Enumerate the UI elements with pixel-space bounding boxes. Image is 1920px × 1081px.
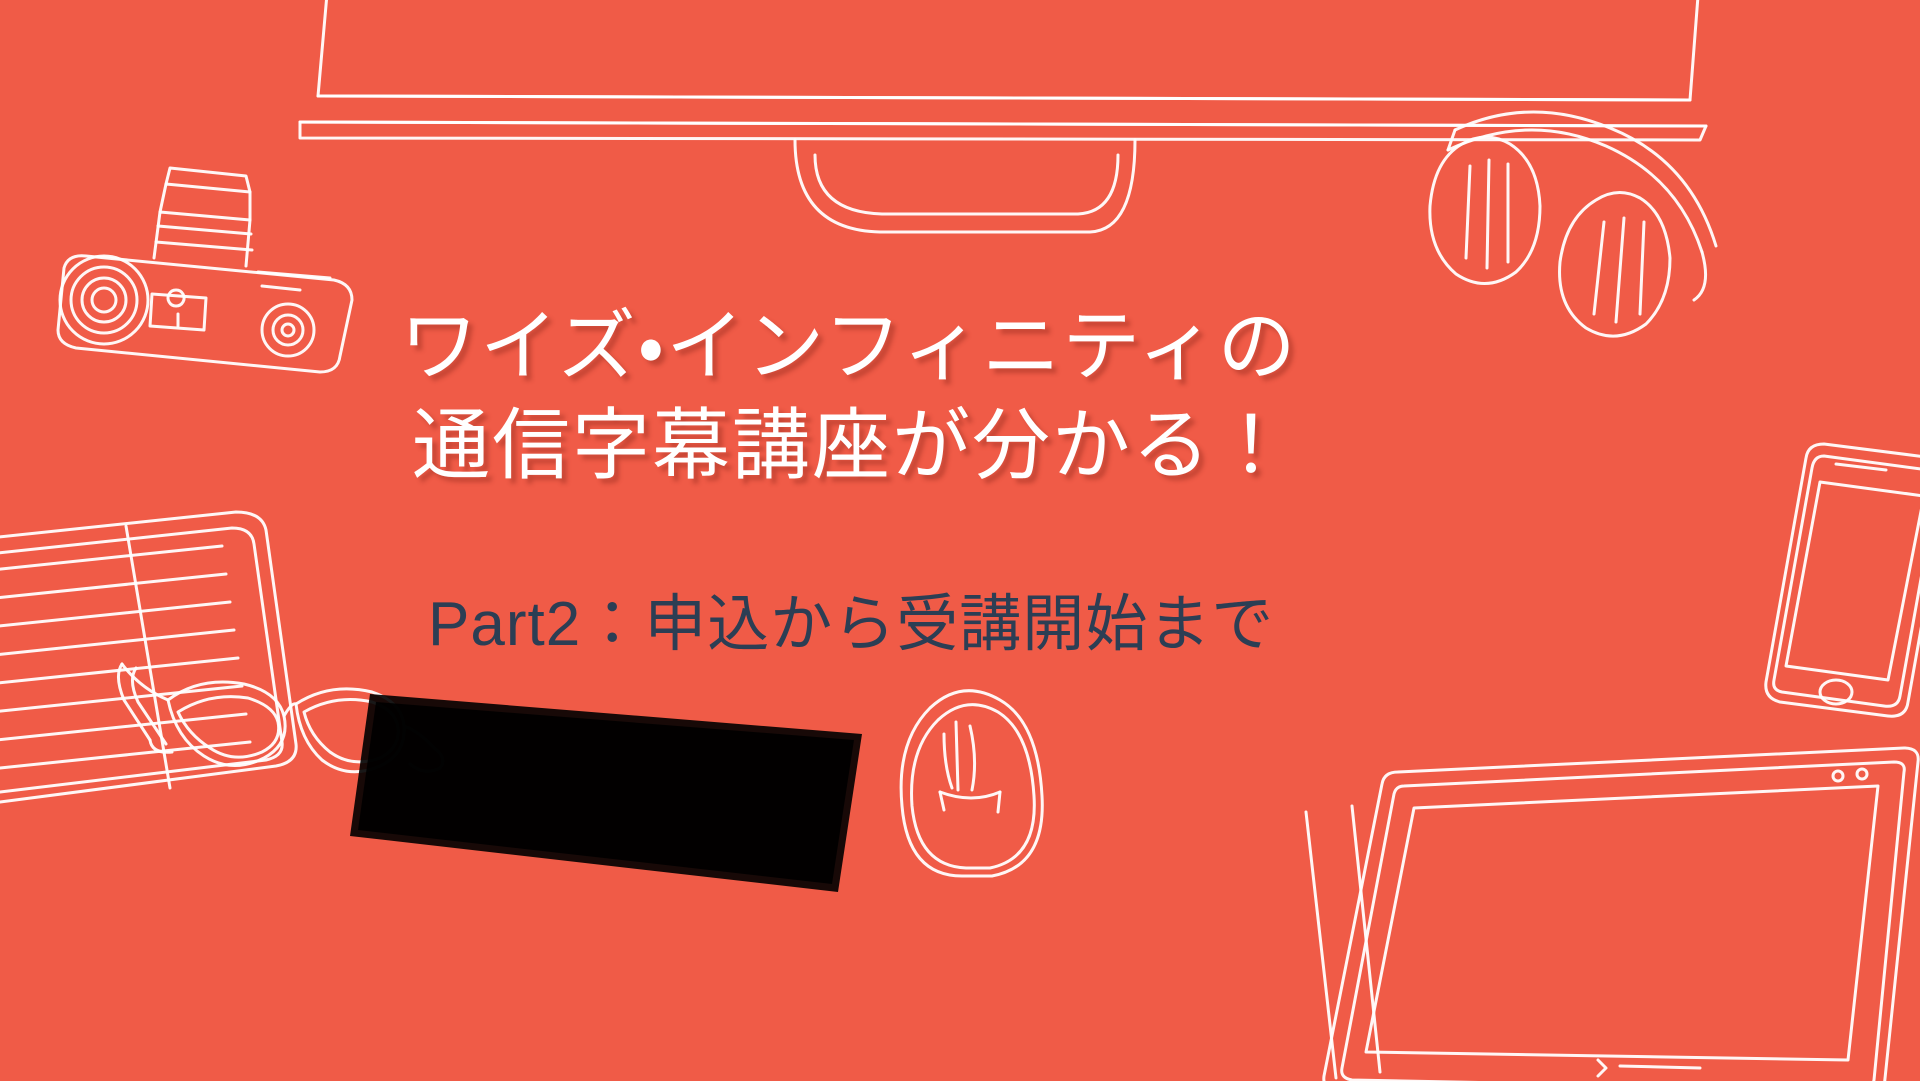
title-line-2: 通信字幕講座が分かる！ [412, 399, 1520, 494]
subtitle: Part2：申込から受講開始まで [428, 588, 1274, 662]
title-slide: ワイズ・インフィニティの 通信字幕講座が分かる！ Part2：申込から受講開始ま… [0, 0, 1920, 1081]
main-title: ワイズ・インフィニティの 通信字幕講座が分かる！ [400, 300, 1520, 494]
slide-text-layer: ワイズ・インフィニティの 通信字幕講座が分かる！ Part2：申込から受講開始ま… [0, 0, 1920, 1081]
title-line-1: ワイズ・インフィニティの [400, 300, 1520, 395]
